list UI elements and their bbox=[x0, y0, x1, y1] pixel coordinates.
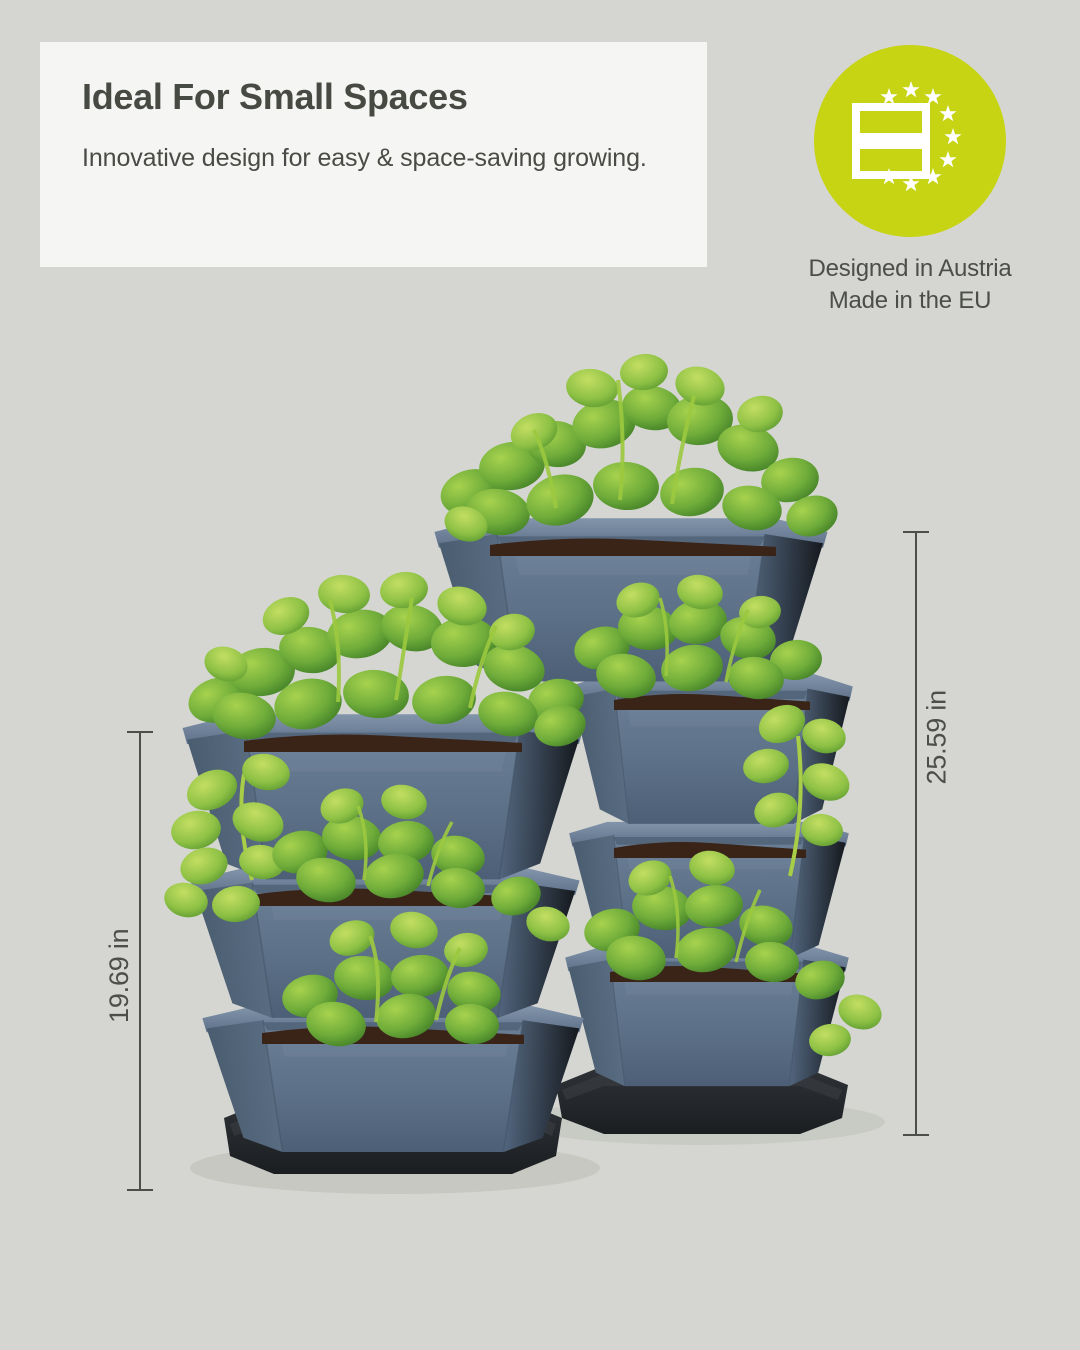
badge-caption-line2: Made in the EU bbox=[765, 285, 1055, 317]
rear-tier-1 bbox=[434, 518, 827, 681]
badge-circle bbox=[814, 45, 1006, 237]
badge-caption: Designed in Austria Made in the EU bbox=[765, 253, 1055, 317]
front-tier-1 bbox=[183, 714, 584, 879]
dimension-label-rear: 25.59 in bbox=[922, 690, 953, 784]
dimension-height-rear: 25.59 in bbox=[903, 531, 929, 1136]
shadow-front bbox=[190, 1142, 600, 1194]
austria-flag-eu-stars-icon bbox=[814, 45, 1006, 237]
origin-badge: Designed in Austria Made in the EU bbox=[765, 45, 1055, 317]
rear-drip-tray bbox=[556, 1068, 848, 1134]
rear-tier-2 bbox=[569, 674, 853, 824]
shadow-rear bbox=[515, 1099, 885, 1145]
feature-text-card: Ideal For Small Spaces Innovative design… bbox=[40, 42, 707, 267]
dimension-cap-bottom bbox=[127, 1189, 153, 1191]
rear-tier-3 bbox=[569, 822, 849, 958]
badge-caption-line1: Designed in Austria bbox=[765, 253, 1055, 285]
front-tier-2 bbox=[190, 868, 579, 1018]
rear-foliage-right-sprig bbox=[740, 698, 854, 876]
dimension-cap-bottom bbox=[903, 1134, 929, 1136]
front-foliage-top bbox=[183, 569, 590, 752]
front-drip-tray bbox=[224, 1100, 562, 1174]
dimension-line bbox=[915, 531, 917, 1136]
page-subtitle: Innovative design for easy & space-savin… bbox=[82, 139, 661, 178]
rear-stack bbox=[434, 352, 886, 1134]
front-stack bbox=[161, 569, 591, 1174]
dimension-height-front: 19.69 in bbox=[127, 731, 153, 1191]
front-foliage-tier2 bbox=[268, 781, 574, 947]
page-title: Ideal For Small Spaces bbox=[82, 76, 661, 117]
front-foliage-tier3 bbox=[278, 907, 505, 1050]
rear-foliage-tier3 bbox=[580, 847, 886, 1059]
front-tier-3 bbox=[202, 1006, 583, 1152]
rear-tier-4 bbox=[565, 946, 849, 1086]
front-foliage-left-sprig bbox=[161, 749, 294, 924]
dimension-label-front: 19.69 in bbox=[104, 929, 135, 1023]
rear-foliage-tier2 bbox=[570, 571, 824, 703]
rear-foliage-top bbox=[435, 352, 843, 548]
dimension-line bbox=[139, 731, 141, 1191]
